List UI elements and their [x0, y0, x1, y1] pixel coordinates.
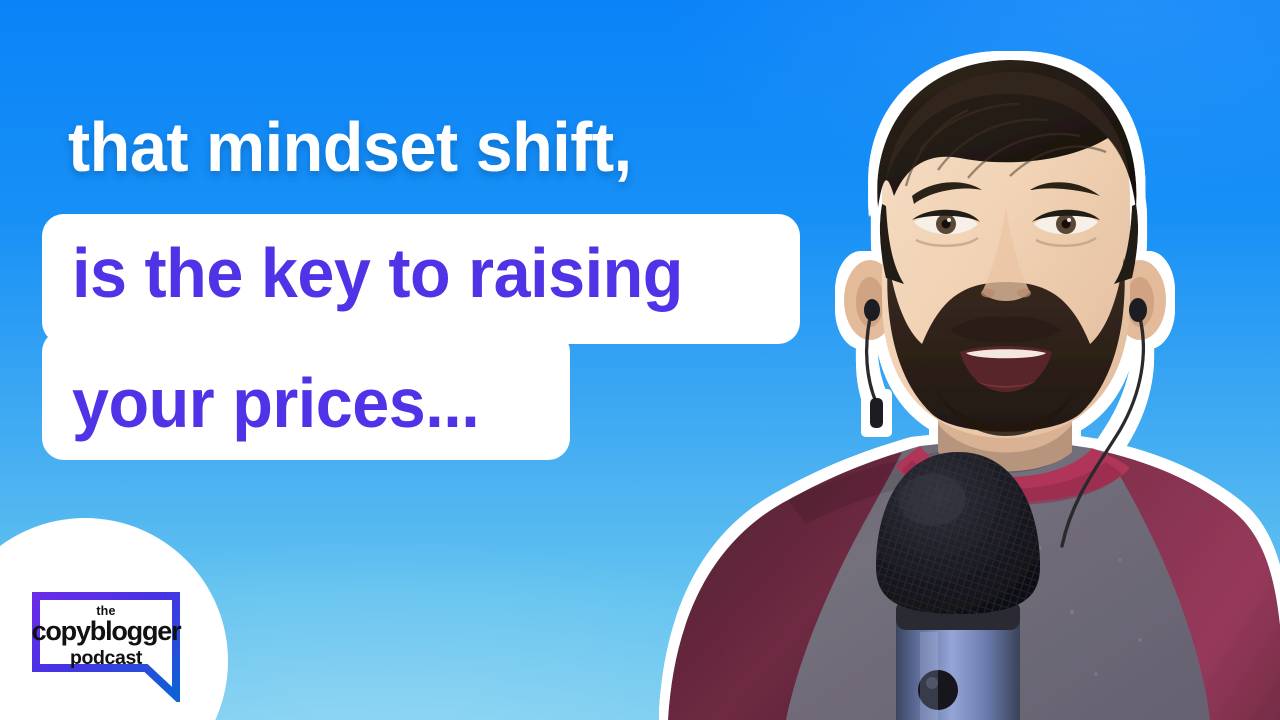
logo-line-podcast: podcast [30, 647, 182, 670]
microphone [876, 452, 1040, 720]
logo-line-brand: copyblogger [30, 616, 182, 647]
video-thumbnail-canvas: that mindset shift, is the key to raisin… [0, 0, 1280, 720]
caption-line-2: is the key to raising [72, 238, 683, 308]
caption-block: that mindset shift, is the key to raisin… [0, 0, 860, 500]
podcast-logo-badge: the copyblogger podcast [0, 518, 228, 720]
speech-bubble-icon: the copyblogger podcast [30, 590, 182, 702]
caption-line-1: that mindset shift, [68, 112, 632, 182]
head [844, 60, 1166, 438]
earbud [1129, 298, 1147, 322]
caption-line-3: your prices... [72, 368, 479, 438]
